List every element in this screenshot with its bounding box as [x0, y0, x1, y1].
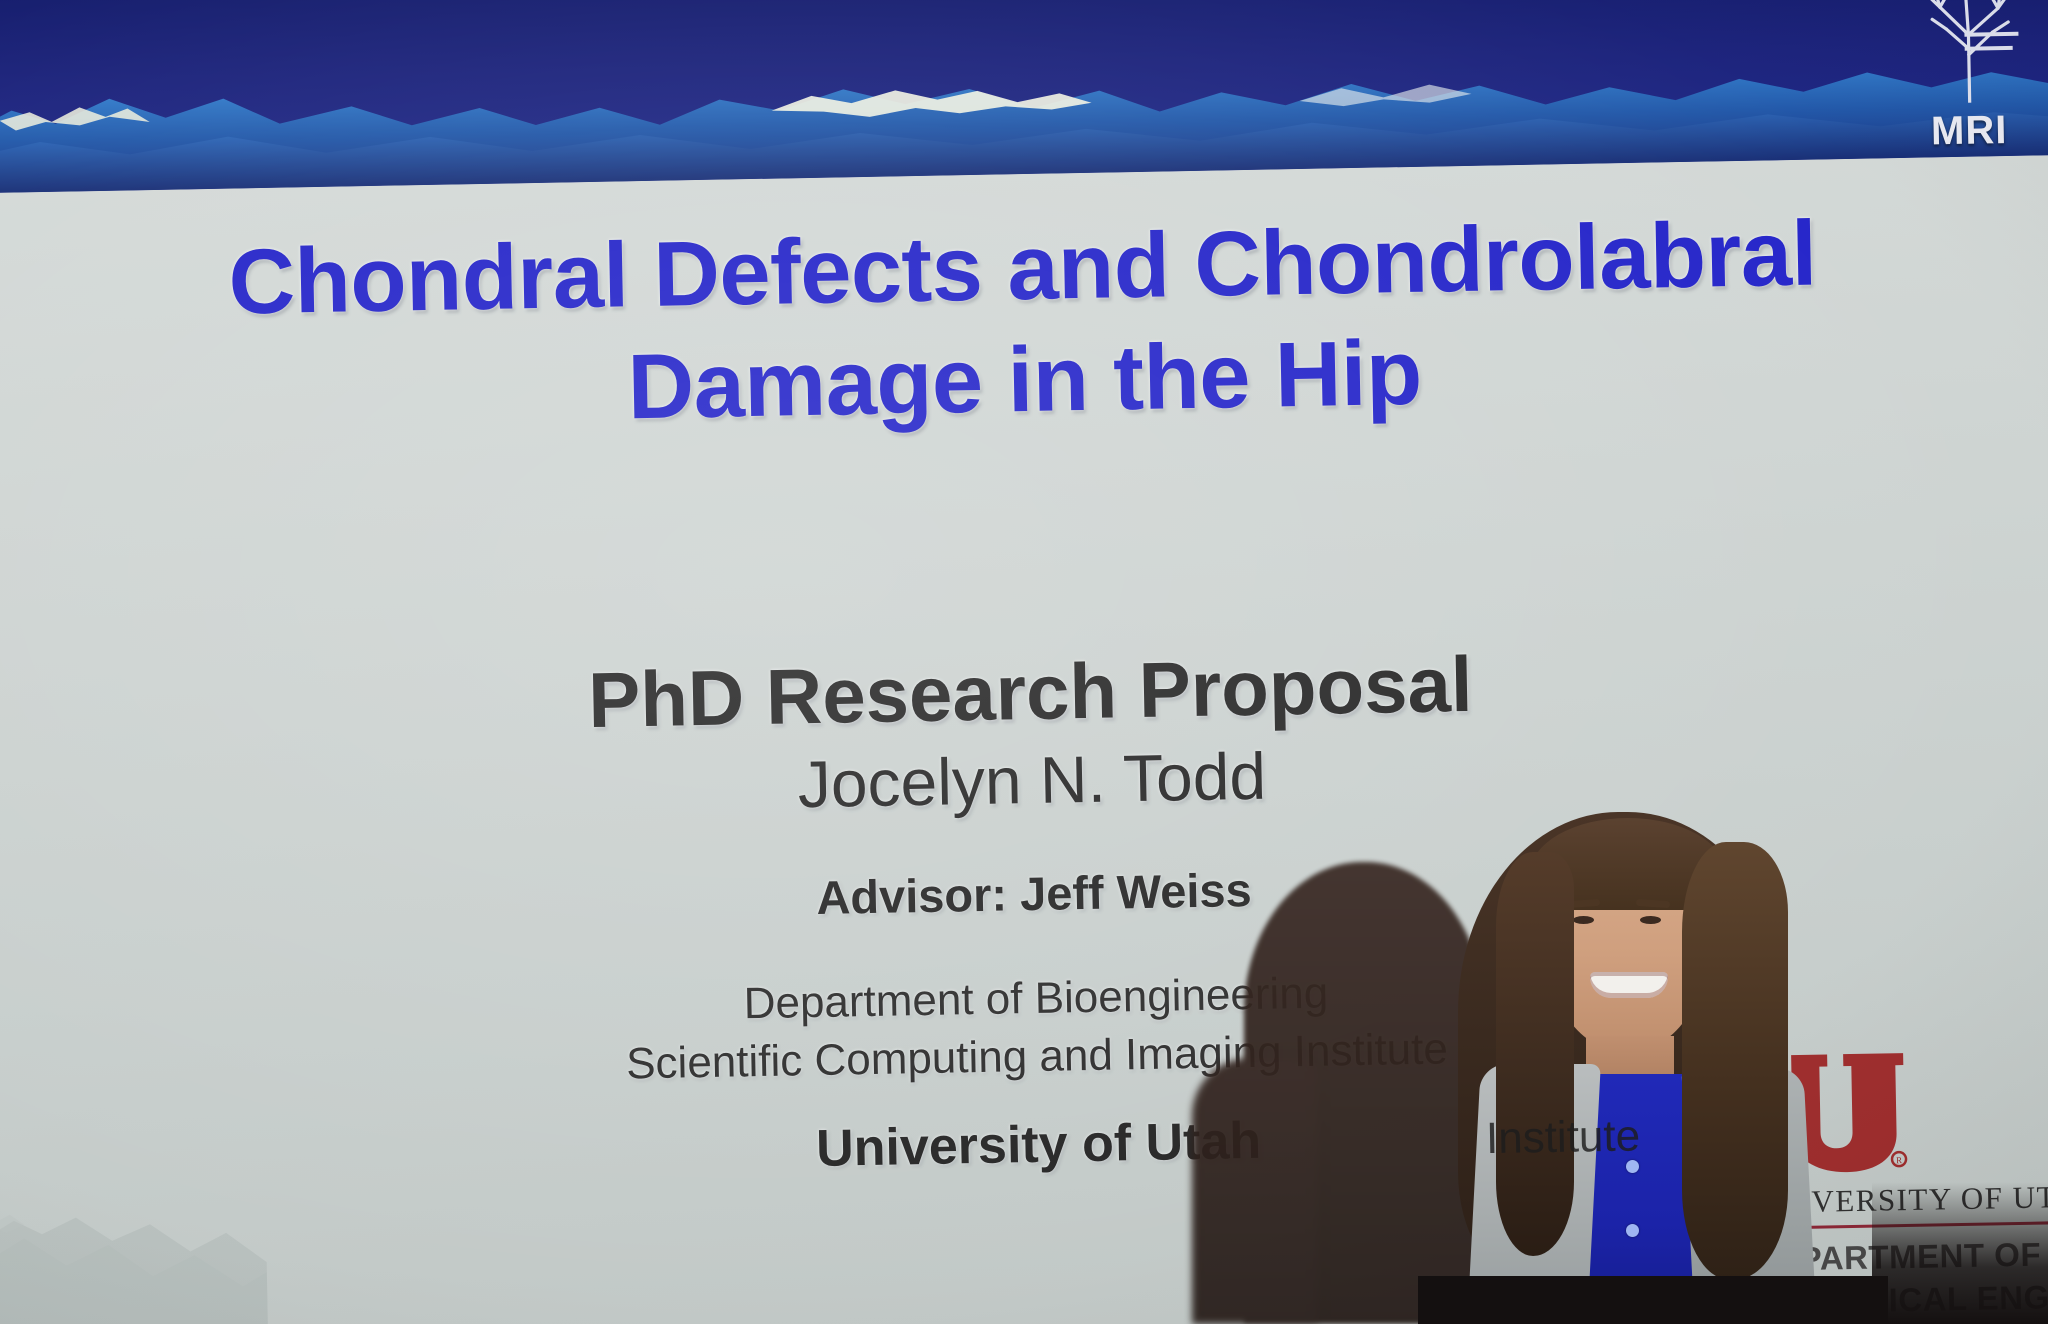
eye-left: [1573, 916, 1594, 924]
projected-text-on-presenter: Institute: [1486, 1110, 1727, 1164]
slide-banner: MRI: [0, 0, 2048, 194]
mountain-watermark-icon: [0, 1158, 283, 1324]
photo-of-presentation: MRI Chondral Defects and Chondrolabral D…: [0, 0, 2048, 1324]
shirt-button: [1626, 1224, 1639, 1237]
slide-title: Chondral Defects and Chondrolabral Damag…: [0, 193, 2048, 456]
dark-stage-edge: [1872, 1182, 2048, 1324]
hair-strand-right: [1682, 842, 1788, 1280]
tree-icon: [1905, 0, 2028, 104]
svg-text:R: R: [1896, 1155, 1902, 1165]
presenter: Institute: [1440, 812, 1840, 1324]
mountain-range-icon: [0, 25, 2048, 194]
hair-strand-left: [1496, 852, 1574, 1256]
smile: [1590, 972, 1668, 998]
shirt-button: [1626, 1160, 1639, 1173]
mri-logo: MRI: [1891, 0, 2044, 154]
podium: [1418, 1276, 1888, 1324]
eye-right: [1640, 916, 1661, 924]
mri-logo-text: MRI: [1894, 109, 2045, 152]
